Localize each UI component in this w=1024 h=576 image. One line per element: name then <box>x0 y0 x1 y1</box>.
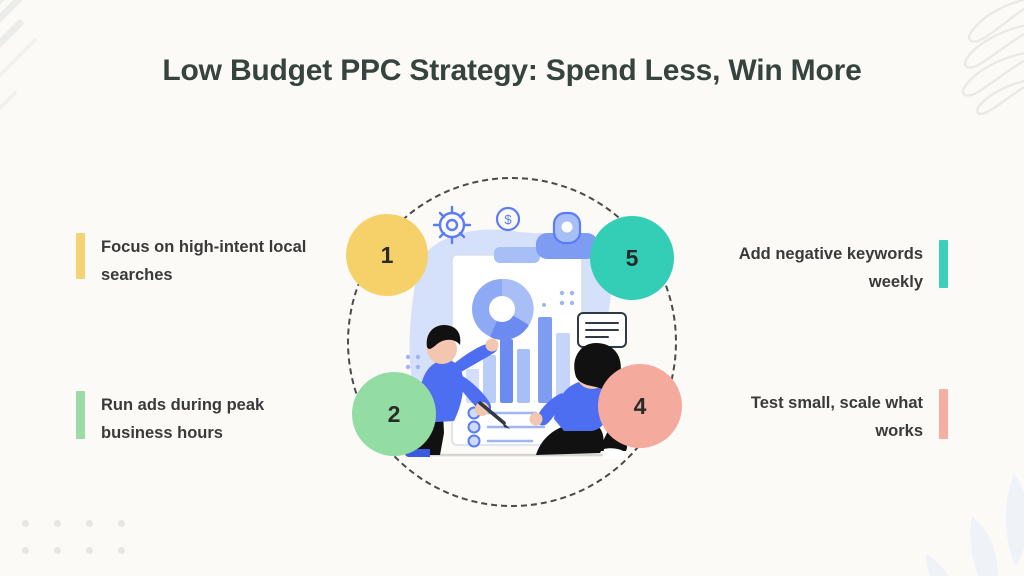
leaf-shapes-decoration <box>864 466 1024 576</box>
step-label-4: Test small, scale what works <box>733 389 948 446</box>
step-number: 1 <box>381 242 394 269</box>
accent-bar-4 <box>939 389 948 439</box>
briefcase-icon <box>536 213 598 259</box>
step-circle-5[interactable]: 5 <box>590 216 674 300</box>
accent-bar-2 <box>76 391 85 439</box>
accent-bar-5 <box>939 240 948 288</box>
step-label-2: Run ads during peak business hours <box>76 391 332 448</box>
step-number: 4 <box>634 393 647 420</box>
page-title: Low Budget PPC Strategy: Spend Less, Win… <box>162 50 862 93</box>
svg-text:$: $ <box>504 212 512 227</box>
step-label-text: Add negative keywords weekly <box>718 240 923 297</box>
dollar-coin-icon: $ <box>497 208 519 230</box>
step-label-1: Focus on high-intent local searches <box>76 233 326 290</box>
diagonal-stripes-decoration <box>0 0 160 140</box>
step-number: 5 <box>626 245 639 272</box>
accent-bar-1 <box>76 233 85 279</box>
step-circle-1[interactable]: 1 <box>346 214 428 296</box>
step-label-5: Add negative keywords weekly <box>718 240 948 297</box>
dot-grid-decoration <box>22 520 125 554</box>
step-circle-2[interactable]: 2 <box>352 372 436 456</box>
step-circle-4[interactable]: 4 <box>598 364 682 448</box>
step-label-text: Test small, scale what works <box>733 389 923 446</box>
step-number: 2 <box>388 401 401 428</box>
step-label-text: Focus on high-intent local searches <box>101 233 326 290</box>
step-label-text: Run ads during peak business hours <box>101 391 332 448</box>
scribble-lines-decoration <box>882 0 1024 124</box>
gear-icon <box>434 207 470 243</box>
